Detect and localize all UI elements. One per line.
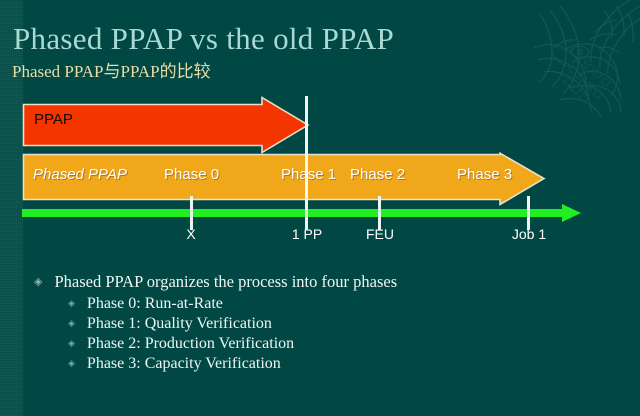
list-item: ◈ Phase 0: Run-at-Rate: [0, 295, 640, 313]
list-item-label: Phase 0: Run-at-Rate: [75, 295, 223, 313]
page-title: Phased PPAP vs the old PPAP: [13, 22, 394, 56]
list-item: ◈ Phase 1: Quality Verification: [0, 315, 640, 333]
list-item-label: Phased PPAP organizes the process into f…: [42, 272, 397, 292]
list-item: ◈ Phase 3: Capacity Verification: [0, 355, 640, 373]
milestone-label-x: X: [186, 226, 195, 242]
list-item: ◈ Phased PPAP organizes the process into…: [0, 272, 640, 292]
diamond-bullet-icon: ◈: [34, 277, 42, 288]
milestone-label-feu: FEU: [366, 226, 394, 242]
diamond-bullet-icon: ◈: [68, 359, 75, 368]
milestone-tick-feu-overlay: [378, 204, 381, 222]
diamond-bullet-icon: ◈: [68, 299, 75, 308]
diamond-bullet-icon: ◈: [68, 339, 75, 348]
milestone-tick-1pp-overlay: [305, 204, 308, 222]
diamond-bullet-icon: ◈: [68, 319, 75, 328]
timeline-arrow-shape: [22, 202, 582, 224]
phased-ppap-arrow-shape: [22, 152, 546, 206]
dragon-watermark-icon: [494, 0, 640, 117]
slide-canvas: Phased PPAP vs the old PPAP Phased PPAP与…: [0, 0, 640, 416]
milestone-label-job1: Job 1: [512, 226, 546, 242]
list-item-label: Phase 1: Quality Verification: [75, 315, 272, 333]
old-ppap-arrow-shape: [22, 96, 310, 154]
milestone-tick-job1-overlay: [527, 204, 530, 222]
milestone-tick-x-overlay: [190, 204, 193, 222]
list-item: ◈ Phase 2: Production Verification: [0, 335, 640, 353]
milestone-label-1pp: 1 PP: [292, 226, 322, 242]
page-subtitle: Phased PPAP与PPAP的比较: [12, 62, 211, 82]
bullet-list: ◈ Phased PPAP organizes the process into…: [0, 272, 640, 375]
list-item-label: Phase 2: Production Verification: [75, 335, 294, 353]
list-item-label: Phase 3: Capacity Verification: [75, 355, 281, 373]
